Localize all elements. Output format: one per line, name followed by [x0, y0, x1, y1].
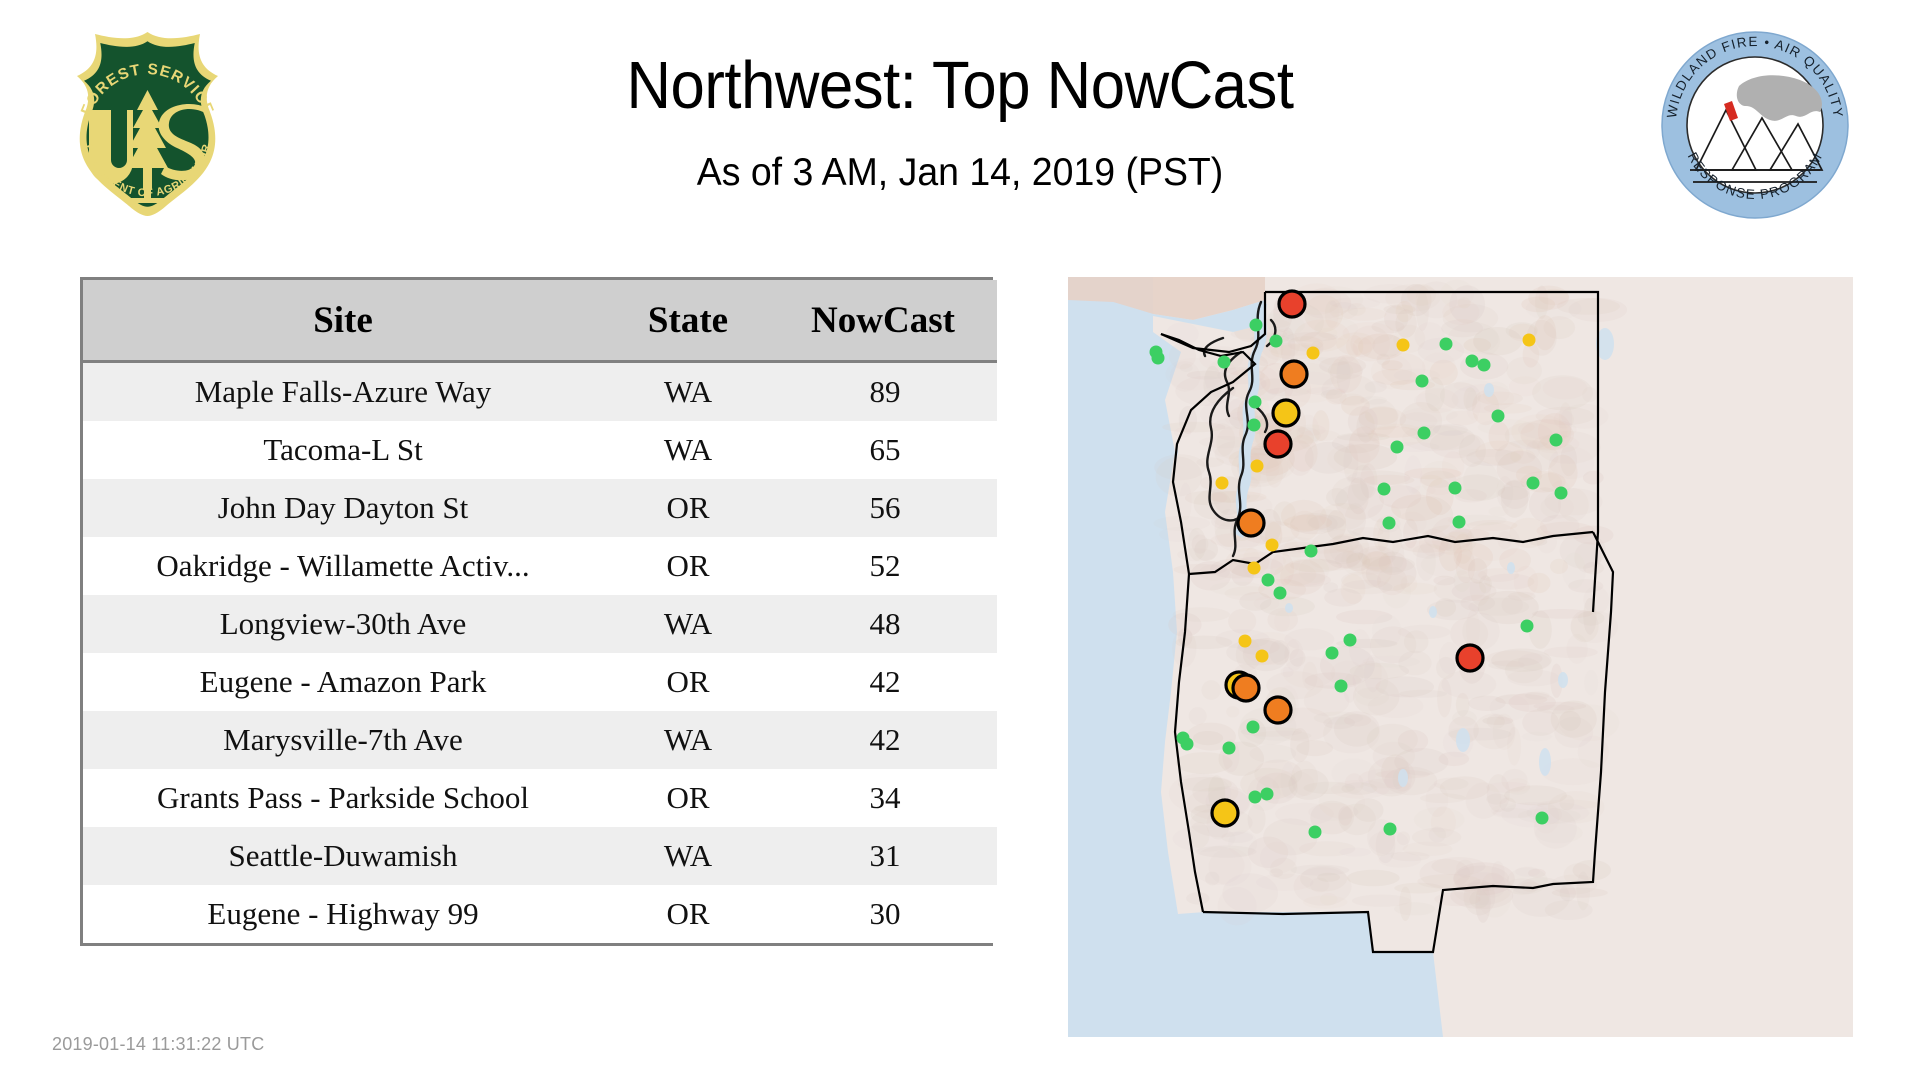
cell-nowcast: 30	[773, 885, 997, 943]
terrain-highland-blob	[1274, 563, 1316, 586]
monitor-marker-unhealthy-highlighted[interactable]	[1457, 645, 1483, 671]
table-row[interactable]: Marysville-7th AveWA42	[83, 711, 997, 769]
monitor-marker-good[interactable]	[1527, 477, 1540, 490]
terrain-highland-blob	[1381, 360, 1402, 370]
terrain-highland-blob	[1327, 444, 1370, 474]
monitor-marker-good[interactable]	[1383, 517, 1396, 530]
terrain-highland-blob	[1442, 299, 1479, 325]
terrain-shading-blob	[1545, 900, 1593, 920]
terrain-shading-blob	[1486, 794, 1507, 805]
terrain-highland-blob	[1399, 412, 1438, 430]
terrain-shading-blob	[1273, 771, 1315, 799]
monitor-marker-good[interactable]	[1248, 419, 1261, 432]
terrain-shading-blob	[1397, 832, 1410, 846]
cell-state: OR	[603, 653, 773, 711]
monitor-marker-good[interactable]	[1466, 355, 1479, 368]
monitor-marker-usg-highlighted[interactable]	[1265, 697, 1291, 723]
monitor-marker-moderate[interactable]	[1251, 460, 1264, 473]
table-row[interactable]: Eugene - Amazon ParkOR42	[83, 653, 997, 711]
monitor-marker-good[interactable]	[1555, 487, 1568, 500]
terrain-shading-blob	[1568, 579, 1603, 593]
cell-nowcast: 42	[773, 653, 997, 711]
monitor-marker-good[interactable]	[1309, 826, 1322, 839]
monitor-marker-good[interactable]	[1416, 375, 1429, 388]
terrain-shading-blob	[1505, 658, 1543, 684]
monitor-marker-good[interactable]	[1550, 434, 1563, 447]
terrain-highland-blob	[1341, 396, 1370, 416]
terrain-highland-blob	[1341, 574, 1366, 604]
monitor-marker-good[interactable]	[1440, 338, 1453, 351]
monitor-marker-good[interactable]	[1262, 574, 1275, 587]
cell-site: Seattle-Duwamish	[83, 827, 603, 885]
terrain-highland-blob	[1430, 360, 1458, 386]
terrain-shading-blob	[1336, 610, 1392, 625]
cell-site: Grants Pass - Parkside School	[83, 769, 603, 827]
page-title: Northwest: Top NowCast	[77, 48, 1843, 123]
cell-state: OR	[603, 479, 773, 537]
inland-lake	[1398, 769, 1408, 787]
terrain-shading-blob	[1544, 647, 1598, 658]
cell-state: WA	[603, 421, 773, 479]
cell-site: Tacoma-L St	[83, 421, 603, 479]
terrain-shading-blob	[1469, 891, 1489, 909]
monitor-marker-good[interactable]	[1326, 647, 1339, 660]
terrain-shading-blob	[1226, 706, 1239, 717]
monitor-marker-good[interactable]	[1391, 441, 1404, 454]
cell-nowcast: 48	[773, 595, 997, 653]
cell-nowcast: 52	[773, 537, 997, 595]
terrain-shading-blob	[1528, 869, 1546, 878]
cell-site: Maple Falls-Azure Way	[83, 362, 603, 422]
terrain-shading-blob	[1189, 707, 1207, 725]
terrain-highland-blob	[1304, 295, 1343, 332]
monitor-marker-good[interactable]	[1249, 791, 1262, 804]
monitor-marker-good[interactable]	[1261, 788, 1274, 801]
terrain-highland-blob	[1550, 559, 1568, 574]
terrain-shading-blob	[1275, 803, 1334, 826]
terrain-shading-blob	[1193, 731, 1223, 745]
terrain-highland-blob	[1548, 455, 1578, 491]
terrain-highland-blob	[1411, 485, 1435, 495]
monitor-marker-good[interactable]	[1378, 483, 1391, 496]
monitor-marker-good[interactable]	[1249, 396, 1262, 409]
terrain-shading-blob	[1186, 892, 1209, 904]
cell-site: John Day Dayton St	[83, 479, 603, 537]
terrain-shading-blob	[1352, 895, 1411, 907]
table-head: Site State NowCast	[83, 280, 997, 362]
terrain-shading-blob	[1583, 562, 1604, 575]
monitor-marker-good[interactable]	[1274, 587, 1287, 600]
terrain-highland-blob	[1341, 308, 1386, 321]
monitor-marker-moderate[interactable]	[1266, 539, 1279, 552]
monitor-marker-good[interactable]	[1152, 352, 1165, 365]
cell-nowcast: 89	[773, 362, 997, 422]
inland-lake	[1456, 728, 1470, 752]
monitor-marker-usg-highlighted[interactable]	[1233, 675, 1259, 701]
monitor-marker-good[interactable]	[1335, 680, 1348, 693]
terrain-highland-blob	[1416, 388, 1459, 413]
inland-lake	[1429, 606, 1437, 618]
cell-site: Eugene - Amazon Park	[83, 653, 603, 711]
cell-nowcast: 56	[773, 479, 997, 537]
cell-state: OR	[603, 537, 773, 595]
cell-site: Marysville-7th Ave	[83, 711, 603, 769]
cell-state: WA	[603, 711, 773, 769]
column-header-nowcast[interactable]: NowCast	[773, 280, 997, 362]
monitor-marker-good[interactable]	[1449, 482, 1462, 495]
cell-nowcast: 65	[773, 421, 997, 479]
terrain-shading-blob	[1304, 782, 1356, 794]
cell-nowcast: 42	[773, 711, 997, 769]
table-row[interactable]: Oakridge - Willamette Activ...OR52	[83, 537, 997, 595]
terrain-shading-blob	[1584, 670, 1598, 695]
terrain-highland-blob	[1475, 441, 1523, 465]
terrain-shading-blob	[1323, 717, 1355, 729]
terrain-highland-blob	[1477, 392, 1523, 406]
terrain-highland-blob	[1364, 475, 1415, 486]
monitor-marker-moderate[interactable]	[1397, 339, 1410, 352]
terrain-highland-blob	[1514, 566, 1538, 598]
terrain-shading-blob	[1435, 598, 1456, 617]
terrain-shading-blob	[1367, 724, 1418, 756]
table-row[interactable]: Longview-30th AveWA48	[83, 595, 997, 653]
cell-state: OR	[603, 885, 773, 943]
monitor-marker-usg-highlighted[interactable]	[1238, 510, 1264, 536]
monitor-marker-good[interactable]	[1521, 620, 1534, 633]
nowcast-table-element: Site State NowCast Maple Falls-Azure Way…	[83, 280, 997, 943]
terrain-shading-blob	[1412, 828, 1461, 847]
cell-state: WA	[603, 362, 773, 422]
column-header-state[interactable]: State	[603, 280, 773, 362]
cell-state: OR	[603, 769, 773, 827]
inland-lake	[1484, 383, 1494, 397]
page-subtitle: As of 3 AM, Jan 14, 2019 (PST)	[38, 150, 1881, 196]
terrain-shading-blob	[1398, 651, 1431, 676]
top-nowcast-table: Site State NowCast Maple Falls-Azure Way…	[80, 277, 993, 946]
monitor-marker-good[interactable]	[1270, 335, 1283, 348]
table-row[interactable]: Grants Pass - Parkside SchoolOR34	[83, 769, 997, 827]
terrain-highland-blob	[1391, 495, 1442, 522]
cell-state: WA	[603, 595, 773, 653]
terrain-shading-blob	[1559, 711, 1581, 731]
monitor-marker-good[interactable]	[1247, 721, 1260, 734]
terrain-shading-blob	[1210, 423, 1235, 456]
table-row[interactable]: Maple Falls-Azure WayWA89	[83, 362, 997, 422]
monitor-marker-moderate[interactable]	[1523, 334, 1536, 347]
terrain-highland-blob	[1446, 411, 1478, 426]
inland-lake	[1285, 603, 1293, 613]
terrain-shading-blob	[1487, 774, 1510, 812]
monitor-marker-moderate[interactable]	[1216, 477, 1229, 490]
generation-timestamp: 2019-01-14 11:31:22 UTC	[52, 1034, 264, 1055]
cell-site: Longview-30th Ave	[83, 595, 603, 653]
terrain-shading-blob	[1355, 687, 1389, 706]
terrain-highland-blob	[1543, 377, 1588, 399]
cell-nowcast: 31	[773, 827, 997, 885]
wildland-fire-air-quality-seal-logo: WILDLAND FIRE • AIR QUALITY RESPONSE PRO…	[1660, 30, 1850, 220]
monitor-marker-good[interactable]	[1218, 356, 1231, 369]
monitor-marker-good[interactable]	[1223, 742, 1236, 755]
monitor-marker-good[interactable]	[1305, 545, 1318, 558]
monitor-marker-good[interactable]	[1453, 516, 1466, 529]
terrain-shading-blob	[1488, 507, 1508, 517]
terrain-highland-blob	[1419, 529, 1448, 557]
monitor-marker-good[interactable]	[1536, 812, 1549, 825]
terrain-shading-blob	[1522, 709, 1559, 736]
northwest-monitor-map[interactable]	[1068, 277, 1853, 1037]
monitor-marker-usg-highlighted[interactable]	[1281, 361, 1307, 387]
terrain-shading-blob	[1537, 800, 1600, 810]
monitor-marker-good[interactable]	[1478, 359, 1491, 372]
terrain-shading-blob	[1274, 610, 1290, 632]
monitor-marker-moderate[interactable]	[1248, 562, 1261, 575]
monitor-marker-good[interactable]	[1492, 410, 1505, 423]
terrain-shading-blob	[1294, 867, 1352, 906]
monitor-marker-moderate-highlighted[interactable]	[1273, 400, 1299, 426]
terrain-highland-blob	[1509, 518, 1547, 548]
terrain-shading-blob	[1202, 680, 1221, 700]
terrain-shading-blob	[1180, 364, 1193, 372]
monitor-marker-unhealthy-highlighted[interactable]	[1265, 431, 1291, 457]
cell-site: Oakridge - Willamette Activ...	[83, 537, 603, 595]
terrain-shading-blob	[1468, 696, 1505, 711]
terrain-shading-blob	[1347, 870, 1400, 887]
table-row[interactable]: Tacoma-L StWA65	[83, 421, 997, 479]
terrain-highland-blob	[1464, 338, 1492, 352]
terrain-shading-blob	[1379, 852, 1422, 868]
cell-site: Eugene - Highway 99	[83, 885, 603, 943]
monitor-marker-good[interactable]	[1418, 427, 1431, 440]
monitor-marker-unhealthy-highlighted[interactable]	[1279, 291, 1305, 317]
terrain-shading-blob	[1437, 678, 1452, 717]
terrain-shading-blob	[1200, 477, 1216, 489]
monitor-marker-good[interactable]	[1384, 823, 1397, 836]
terrain-shading-blob	[1583, 471, 1604, 485]
cell-state: WA	[603, 827, 773, 885]
map-canvas[interactable]	[1068, 277, 1853, 1037]
monitor-marker-moderate[interactable]	[1307, 347, 1320, 360]
terrain-shading-blob	[1498, 486, 1529, 500]
terrain-shading-blob	[1228, 609, 1256, 634]
table-row[interactable]: John Day Dayton StOR56	[83, 479, 997, 537]
monitor-marker-moderate-highlighted[interactable]	[1212, 800, 1238, 826]
table-header-row: Site State NowCast	[83, 280, 997, 362]
terrain-shading-blob	[1507, 727, 1521, 766]
terrain-highland-blob	[1300, 332, 1337, 351]
inland-lake	[1507, 562, 1515, 574]
column-header-site[interactable]: Site	[83, 280, 603, 362]
terrain-shading-blob	[1404, 630, 1429, 653]
monitor-marker-moderate[interactable]	[1256, 650, 1269, 663]
table-row[interactable]: Eugene - Highway 99OR30	[83, 885, 997, 943]
inland-lake	[1539, 748, 1551, 776]
terrain-highland-blob	[1385, 284, 1440, 311]
terrain-highland-blob	[1520, 419, 1574, 450]
terrain-shading-blob	[1154, 454, 1205, 480]
table-row[interactable]: Seattle-DuwamishWA31	[83, 827, 997, 885]
monitor-marker-good[interactable]	[1181, 738, 1194, 751]
monitor-marker-good[interactable]	[1344, 634, 1357, 647]
inland-lake	[1558, 672, 1568, 688]
monitor-marker-good[interactable]	[1250, 319, 1263, 332]
table-body: Maple Falls-Azure WayWA89Tacoma-L StWA65…	[83, 362, 997, 944]
terrain-highland-blob	[1393, 583, 1437, 595]
cell-nowcast: 34	[773, 769, 997, 827]
terrain-highland-blob	[1534, 315, 1556, 350]
terrain-shading-blob	[1193, 846, 1245, 884]
monitor-marker-moderate[interactable]	[1239, 635, 1252, 648]
terrain-highland-blob	[1330, 355, 1362, 393]
terrain-shading-blob	[1269, 868, 1283, 877]
